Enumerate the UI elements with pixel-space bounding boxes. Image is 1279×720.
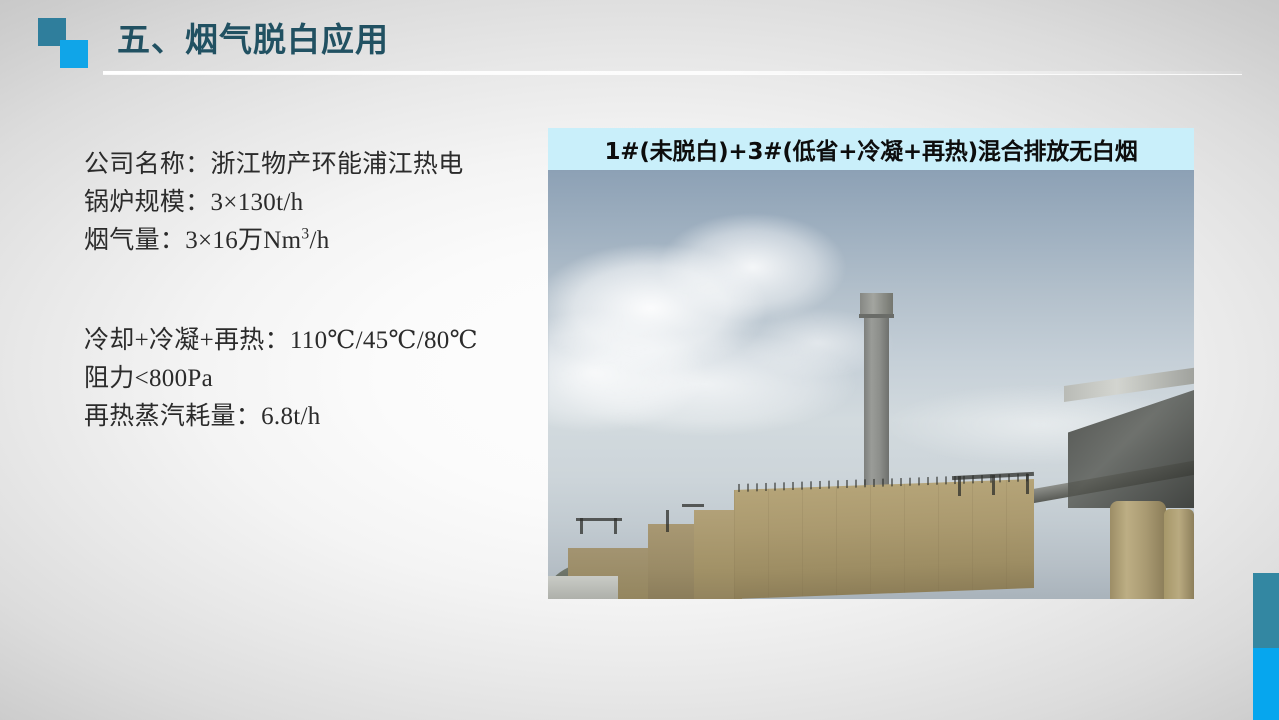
photo-chimney-ring [859,314,894,318]
photo-gantry-leg-2a [580,518,583,534]
text-line-reheat-steam: 再热蒸汽耗量：6.8t/h [84,398,514,436]
photo-chimney-cap [860,293,893,315]
superscript-three: 3 [301,226,309,243]
accent-bar-teal [1253,573,1279,648]
photo-gantry-mast-3 [666,510,669,532]
title-divider [103,71,1242,74]
slide-canvas: 五、烟气脱白应用 公司名称：浙江物产环能浦江热电 锅炉规模：3×130t/h 烟… [0,0,1279,720]
photo-gantry-leg-1b [992,475,995,495]
text-line-flue-gas-volume: 烟气量：3×16万Nm3/h [84,222,514,260]
text-line-resistance: 阻力<800Pa [84,360,514,398]
left-text-column: 公司名称：浙江物产环能浦江热电 锅炉规模：3×130t/h 烟气量：3×16万N… [84,146,514,436]
photo-caption-text: 1#(未脱白)+3#(低省+冷凝+再热)混合排放无白烟 [604,132,1137,166]
photo-gantry-beam-4 [682,504,704,507]
photo-caption-banner: 1#(未脱白)+3#(低省+冷凝+再热)混合排放无白烟 [548,128,1194,170]
accent-bar-cyan [1253,648,1279,720]
photo-building-main [734,479,1034,599]
photo-gantry-leg-1a [958,476,961,496]
plant-photo: 1#(未脱白)+3#(低省+冷凝+再热)混合排放无白烟 [548,128,1194,599]
photo-silo-large [1110,501,1166,599]
decoration-square-bright-icon [60,40,88,68]
photo-gantry-leg-1c [1026,474,1029,494]
paragraph-spacer [84,260,514,322]
page-title: 五、烟气脱白应用 [117,18,389,62]
text-line-company-name: 公司名称：浙江物产环能浦江热电 [84,146,514,184]
photo-building-lower-left [548,576,618,599]
photo-gantry-leg-2b [614,518,617,534]
photo-silo-small [1164,509,1194,599]
text-line-boiler-scale: 锅炉规模：3×130t/h [84,184,514,222]
text-line-process-temperatures: 冷却+冷凝+再热：110℃/45℃/80℃ [84,322,514,360]
